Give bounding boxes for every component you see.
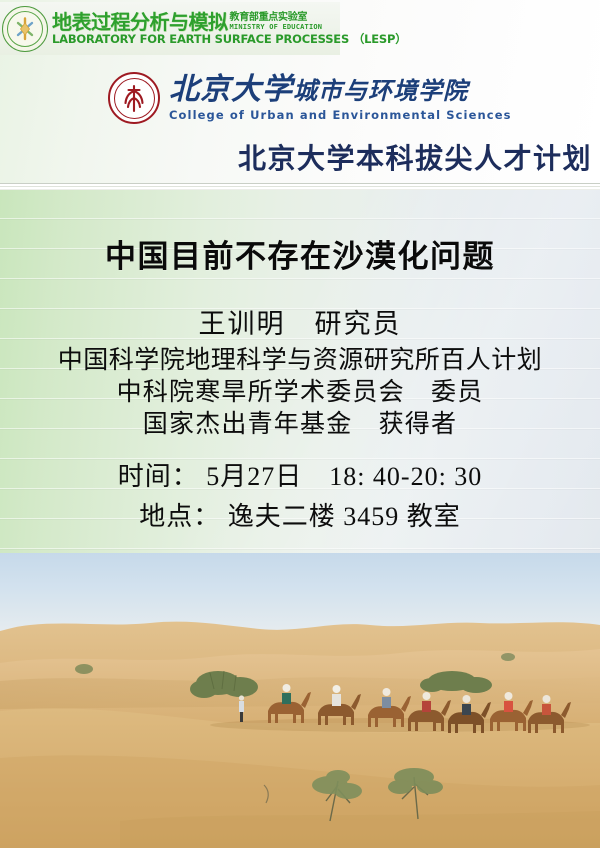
talk-location: 地点： 逸夫二楼 3459 教室 — [0, 496, 600, 533]
speaker-affiliation-2: 中科院寒旱所学术委员会 委员 — [0, 372, 600, 408]
seal-emblem-red — [118, 82, 150, 114]
speaker-name: 王训明 研究员 — [0, 302, 600, 341]
college-cn-sub: 城市与环境学院 — [293, 79, 468, 105]
seal-emblem-green — [12, 16, 38, 42]
college-en-title: College of Urban and Environmental Scien… — [169, 108, 512, 122]
speaker-affiliation-1: 中国科学院地理科学与资源研究所百人计划 — [0, 340, 600, 376]
desert-camel-caravan-photo — [0, 553, 600, 848]
college-text-block: 北京大学城市与环境学院 College of Urban and Environ… — [169, 74, 512, 122]
speaker-affiliation-3: 国家杰出青年基金 获得者 — [0, 404, 600, 440]
pku-seal-icon — [2, 6, 48, 52]
lab-banner: 地表过程分析与模拟 教育部重点实验室 MINISTRY OF EDUCATION… — [0, 2, 340, 55]
college-logo-row: 北京大学城市与环境学院 College of Urban and Environ… — [108, 72, 512, 124]
lab-en-title: LABORATORY FOR EARTH SURFACE PROCESSES （… — [52, 34, 407, 46]
program-title: 北京大学本科拔尖人才计划 — [0, 137, 600, 177]
talk-info-panel: 中国目前不存在沙漠化问题 王训明 研究员 中国科学院地理科学与资源研究所百人计划… — [0, 190, 600, 553]
header-divider-2 — [0, 186, 600, 187]
pku-seal-icon — [108, 72, 160, 124]
college-cn-main: 北京大学 — [169, 73, 293, 106]
lab-moe-en: MINISTRY OF EDUCATION — [230, 24, 323, 31]
talk-title: 中国目前不存在沙漠化问题 — [0, 231, 600, 276]
lab-moe-block: 教育部重点实验室 MINISTRY OF EDUCATION — [230, 13, 323, 31]
header-divider-1 — [0, 183, 600, 184]
lab-cn-title: 地表过程分析与模拟 — [52, 12, 228, 32]
lab-banner-text: 地表过程分析与模拟 教育部重点实验室 MINISTRY OF EDUCATION… — [52, 11, 407, 46]
college-cn-title: 北京大学城市与环境学院 — [169, 74, 512, 106]
lecture-poster: 地表过程分析与模拟 教育部重点实验室 MINISTRY OF EDUCATION… — [0, 0, 600, 848]
talk-time: 时间： 5月27日 18: 40-20: 30 — [0, 456, 600, 493]
